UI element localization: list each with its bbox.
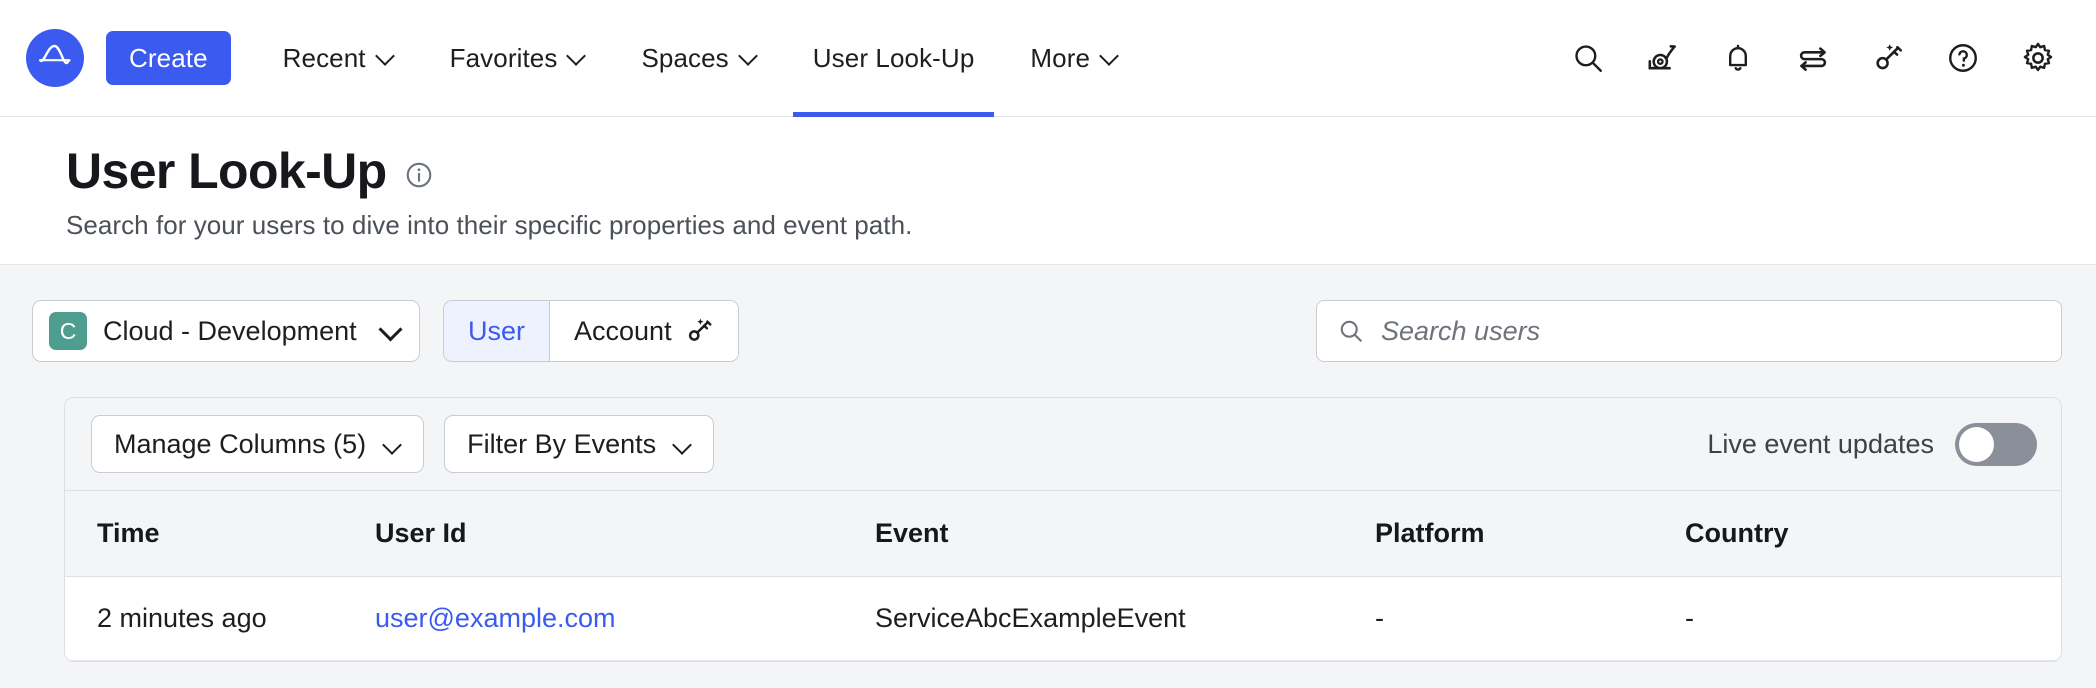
manage-columns-button[interactable]: Manage Columns (5) [91,415,424,473]
create-button[interactable]: Create [106,31,231,85]
live-event-updates-toggle[interactable] [1955,423,2037,466]
filter-by-events-button[interactable]: Filter By Events [444,415,714,473]
page-subtitle: Search for your users to dive into their… [66,210,2096,241]
chevron-down-icon [674,436,691,453]
nav-menu: Recent Favorites Spaces User Look-Up Mor… [255,0,1146,117]
manage-columns-label: Manage Columns (5) [114,429,366,460]
page-header: User Look-Up Search for your users to di… [0,117,2096,265]
filter-by-events-label: Filter By Events [467,429,656,460]
top-navigation-bar: Create Recent Favorites Spaces User Look… [0,0,2096,117]
search-icon[interactable] [1570,40,1606,76]
cell-event: ServiceAbcExampleEvent [875,577,1375,661]
nav-item-label: Recent [283,43,366,74]
segment-account[interactable]: Account [549,301,738,361]
bell-icon[interactable] [1720,40,1756,76]
table-controls-bar: Manage Columns (5) Filter By Events Live… [65,398,2061,490]
nav-item-spaces[interactable]: Spaces [613,0,784,117]
info-circle-icon[interactable] [404,160,434,190]
live-event-updates-group: Live event updates [1707,423,2037,466]
project-name: Cloud - Development [103,316,357,347]
live-event-updates-label: Live event updates [1707,429,1934,460]
nav-item-label: Favorites [450,43,558,74]
table-row[interactable]: 2 minutes ago user@example.com ServiceAb… [65,577,2061,661]
nav-item-more[interactable]: More [1002,0,1146,117]
chevron-down-icon [377,47,394,64]
nav-item-label: User Look-Up [813,43,975,74]
toggle-knob [1959,427,1994,462]
nav-item-user-look-up[interactable]: User Look-Up [785,0,1003,117]
chevron-down-icon [384,436,401,453]
app-root: Create Recent Favorites Spaces User Look… [0,0,2096,688]
chevron-down-icon [1101,47,1118,64]
page-title: User Look-Up [66,143,387,201]
sparkle-key-icon[interactable] [1870,40,1906,76]
chevron-down-icon [380,319,400,339]
cell-platform: - [1375,577,1685,661]
user-account-segmented-control: User Account [443,300,739,362]
nav-item-recent[interactable]: Recent [255,0,422,117]
events-table: Time User Id Event Platform Country 2 mi… [65,490,2061,661]
chevron-down-icon [740,47,757,64]
events-table-body: 2 minutes ago user@example.com ServiceAb… [65,577,2061,661]
page-toolbar: C Cloud - Development User Account [0,265,2096,369]
swap-arrows-icon[interactable] [1795,40,1831,76]
gear-icon[interactable] [2020,40,2056,76]
events-table-card: Manage Columns (5) Filter By Events Live… [64,397,2062,662]
segment-user[interactable]: User [444,301,549,361]
segment-user-label: User [468,316,525,347]
project-badge: C [49,312,87,350]
user-id-link[interactable]: user@example.com [375,603,616,633]
cell-country: - [1685,577,2061,661]
nav-item-label: More [1030,43,1090,74]
events-table-head: Time User Id Event Platform Country [65,491,2061,577]
column-header-platform[interactable]: Platform [1375,491,1685,577]
project-selector[interactable]: C Cloud - Development [32,300,420,362]
amplitude-logo-icon[interactable] [26,29,84,87]
segment-account-label: Account [574,316,672,347]
search-icon [1337,317,1365,345]
sparkle-key-icon [684,316,714,346]
nav-left-group: Create Recent Favorites Spaces User Look… [26,0,1146,116]
search-users-field[interactable] [1316,300,2062,362]
column-header-event[interactable]: Event [875,491,1375,577]
nav-right-icon-group [1570,40,2062,76]
help-circle-icon[interactable] [1945,40,1981,76]
search-input[interactable] [1381,316,2041,347]
column-header-user-id[interactable]: User Id [375,491,875,577]
title-row: User Look-Up [66,143,2096,201]
cell-user-id: user@example.com [375,577,875,661]
cell-time: 2 minutes ago [65,577,375,661]
nav-item-label: Spaces [641,43,728,74]
snail-icon[interactable] [1645,40,1681,76]
table-header-row: Time User Id Event Platform Country [65,491,2061,577]
nav-item-favorites[interactable]: Favorites [422,0,614,117]
column-header-time[interactable]: Time [65,491,375,577]
column-header-country[interactable]: Country [1685,491,2061,577]
chevron-down-icon [568,47,585,64]
